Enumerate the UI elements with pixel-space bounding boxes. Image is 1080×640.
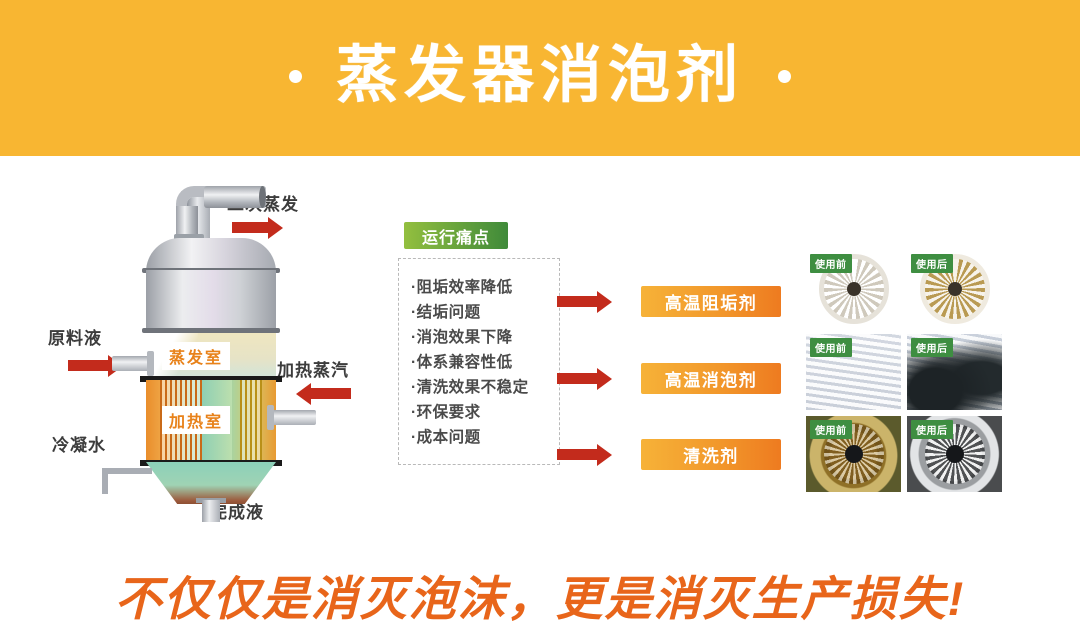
footer-slogan: 不仅仅是消灭泡沫，更是消灭生产损失!	[115, 575, 966, 622]
pain-points-panel: 运行痛点 ·阻垢效率降低 ·结垢问题 ·消泡效果下降 ·体系兼容性低 ·清洗效果…	[398, 222, 560, 465]
evaporator-diagram: 二次蒸发 原料液 加热蒸汽 冷凝水 完成液	[60, 176, 390, 536]
arrow-to-solution-1-icon	[557, 296, 612, 307]
gallery-row-discs: 使用前 使用后	[806, 250, 1002, 328]
solution-badge-antiscalant[interactable]: 高温阻垢剂	[641, 286, 781, 317]
gallery-row-impellers: 使用前 使用后	[806, 416, 1002, 492]
arrow-head	[597, 444, 612, 466]
product-outlet-pipe	[202, 500, 220, 522]
arrow-bar	[557, 296, 597, 307]
pain-points-list: ·阻垢效率降低 ·结垢问题 ·消泡效果下降 ·体系兼容性低 ·清洗效果不稳定 ·…	[398, 258, 560, 465]
solution-badge-cleaner[interactable]: 清洗剂	[641, 439, 781, 470]
photo-impeller-before[interactable]: 使用前	[806, 416, 901, 492]
arrow-head	[296, 383, 311, 405]
decorative-dot-right-icon	[778, 70, 791, 83]
footer-slogan-bar: 不仅仅是消灭泡沫，更是消灭生产损失!	[0, 556, 1080, 640]
feed-inlet-nozzle	[112, 356, 152, 371]
arrow-bar	[68, 360, 108, 371]
decorative-dot-left-icon	[289, 70, 302, 83]
badge-before-use: 使用前	[810, 254, 852, 273]
badge-before-use: 使用前	[810, 338, 852, 357]
label-feed-liquid: 原料液	[48, 324, 102, 349]
badge-after-use: 使用后	[911, 254, 953, 273]
arrow-heating-steam-icon	[296, 388, 351, 399]
before-after-gallery: 使用前 使用后 使用前 使用后 使用前 使用后	[806, 250, 1002, 498]
pain-point-item: ·环保要求	[411, 400, 549, 425]
vessel-dome	[146, 238, 276, 272]
banner-content: 蒸发器消泡剂	[289, 45, 791, 107]
arrow-bar	[557, 449, 597, 460]
tag-evaporation-chamber: 蒸发室	[162, 342, 230, 370]
solution-badge-defoamer[interactable]: 高温消泡剂	[641, 363, 781, 394]
arrow-to-solution-3-icon	[557, 449, 612, 460]
photo-impeller-after[interactable]: 使用后	[907, 416, 1002, 492]
arrow-to-solution-2-icon	[557, 373, 612, 384]
vapor-horizontal-pipe	[204, 186, 266, 208]
arrow-bar	[311, 388, 351, 399]
pain-point-item: ·清洗效果不稳定	[411, 375, 549, 400]
pain-point-item: ·体系兼容性低	[411, 350, 549, 375]
label-heating-steam: 加热蒸汽	[277, 356, 349, 381]
tag-heating-chamber: 加热室	[162, 406, 230, 434]
main-content-area: 二次蒸发 原料液 加热蒸汽 冷凝水 完成液	[0, 156, 1080, 556]
pain-points-badge: 运行痛点	[404, 222, 508, 249]
pain-point-item: ·结垢问题	[411, 300, 549, 325]
gallery-row-foam: 使用前 使用后	[806, 334, 1002, 410]
badge-before-use: 使用前	[810, 420, 852, 439]
pain-point-item: ·消泡效果下降	[411, 325, 549, 350]
steam-inlet-nozzle	[270, 410, 316, 425]
photo-foam-before[interactable]: 使用前	[806, 334, 901, 410]
photo-foam-after[interactable]: 使用后	[907, 334, 1002, 410]
badge-after-use: 使用后	[911, 420, 953, 439]
photo-disc-after[interactable]: 使用后	[907, 250, 1002, 328]
vessel-upper-shell	[146, 270, 276, 332]
badge-after-use: 使用后	[911, 338, 953, 357]
page-header-banner: 蒸发器消泡剂	[0, 0, 1080, 156]
pain-point-item: ·阻垢效率降低	[411, 275, 549, 300]
photo-disc-before[interactable]: 使用前	[806, 250, 901, 328]
arrow-head	[597, 291, 612, 313]
condensate-outlet-pipe	[102, 468, 152, 474]
arrow-head	[597, 368, 612, 390]
pain-point-item: ·成本问题	[411, 425, 549, 450]
heat-tubes-right	[240, 380, 262, 462]
label-condensate: 冷凝水	[52, 431, 106, 456]
page-title: 蒸发器消泡剂	[336, 45, 744, 107]
arrow-bar	[557, 373, 597, 384]
evaporator-vessel: 蒸发室 加热室	[146, 224, 276, 492]
